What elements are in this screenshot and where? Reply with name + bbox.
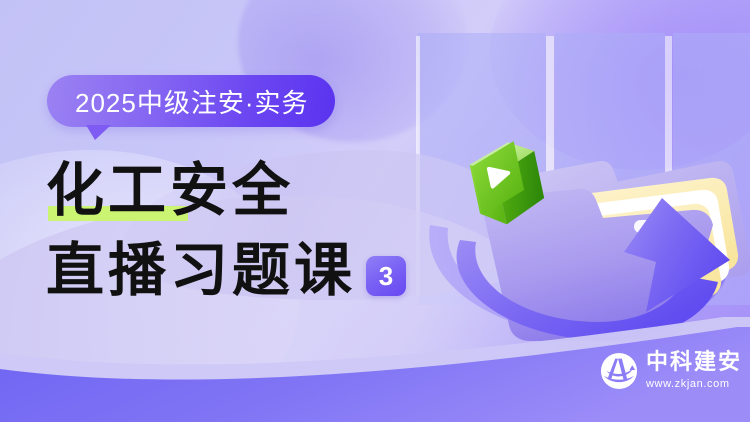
course-tag-badge-body: 2025中级注安·实务 [47,75,335,127]
headline-line-1: 化工安全 [46,158,294,222]
course-banner: 2025中级注安·实务 化工安全 直播习题课 3 中科建安 www.zkjan.… [0,0,750,422]
brand-logo: 中科建安 www.zkjan.com [600,352,742,390]
brand-name: 中科建安 [646,352,742,374]
circle-person-arrow-icon [600,352,638,390]
badge-tail-decoration [86,125,111,140]
headline-row-1: 化工安全 [46,150,466,222]
course-tag-badge: 2025中级注安·实务 [47,75,335,127]
episode-number-badge: 3 [366,256,406,296]
headline-row-2: 直播习题课 3 [46,230,466,302]
brand-url: www.zkjan.com [646,379,742,390]
headline-line-2: 直播习题课 [46,238,356,302]
brand-logo-texts: 中科建安 www.zkjan.com [646,352,742,390]
course-tag-label: 2025中级注安·实务 [75,83,309,120]
headline-block: 化工安全 直播习题课 3 [46,150,466,302]
